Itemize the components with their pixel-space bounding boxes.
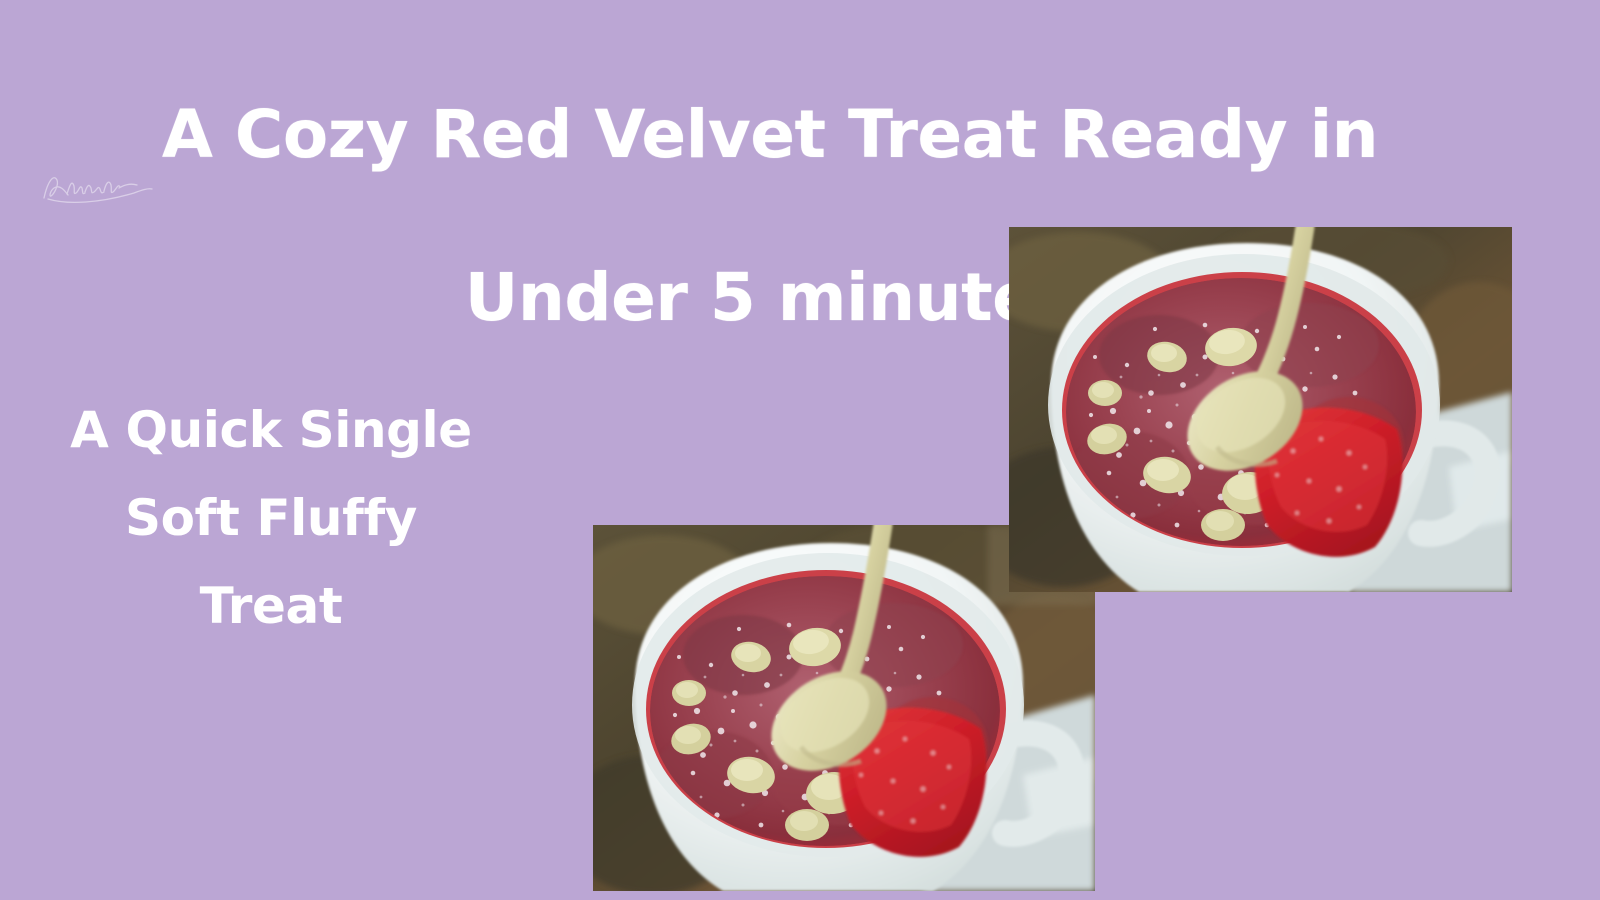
signature-watermark	[38, 158, 158, 210]
poster-canvas: A Cozy Red Velvet Treat Ready in Under 5…	[0, 0, 1600, 900]
page-subtitle-line-3: Treat	[36, 562, 506, 650]
page-subtitle-line-2: Soft Fluffy	[36, 474, 506, 562]
page-subtitle-line-1: A Quick Single	[36, 386, 506, 474]
page-title-line-1: A Cozy Red Velvet Treat Ready in	[0, 95, 1540, 176]
mug-cake-photo-top-right	[1009, 227, 1512, 592]
page-subtitle: A Quick Single Soft Fluffy Treat	[36, 386, 506, 650]
